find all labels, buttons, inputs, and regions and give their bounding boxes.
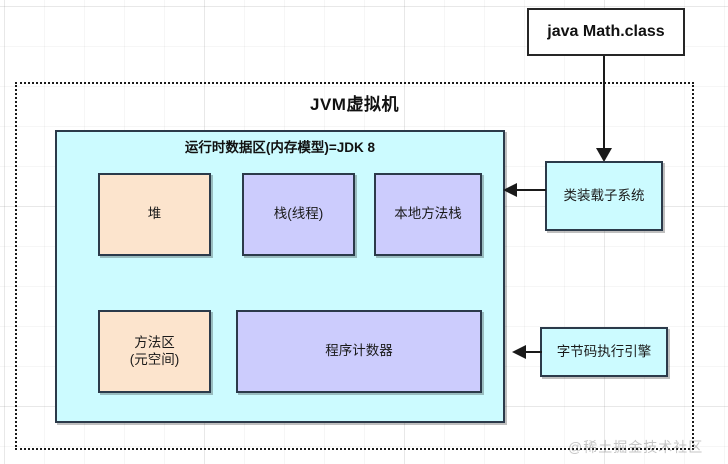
bytecode-execution-engine-label: 字节码执行引擎 [557,344,652,361]
diagram-canvas: java Math.class JVM虚拟机 运行时数据区(内存模型)=JDK … [0,0,728,464]
jvm-title: JVM虚拟机 [15,86,694,118]
method-area-label: 方法区 (元空间) [130,335,180,369]
watermark: @稀土掘金技术社区 [568,437,703,457]
heap-box[interactable]: 堆 [98,173,211,256]
class-loader-subsystem-box[interactable]: 类装载子系统 [545,161,663,231]
method-area-box[interactable]: 方法区 (元空间) [98,310,211,393]
native-method-stack-label: 本地方法栈 [394,206,462,223]
arrow-bytecode-to-runtimedata-head [512,345,526,359]
arrow-classloader-to-runtimedata-head [503,183,517,197]
method-area-label-line1: 方法区 [130,335,180,352]
arrow-bytecode-to-runtimedata-line [526,351,542,353]
heap-label: 堆 [148,206,162,223]
runtime-data-area-title: 运行时数据区(内存模型)=JDK 8 [55,133,505,159]
class-loader-subsystem-label: 类装载子系统 [564,188,645,205]
program-counter-register-label: 程序计数器 [325,343,393,360]
stack-label: 栈(线程) [274,206,324,223]
method-area-label-line2: (元空间) [130,352,180,369]
native-method-stack-box[interactable]: 本地方法栈 [374,173,482,256]
java-math-class-box[interactable]: java Math.class [527,8,685,56]
arrow-classloader-to-runtimedata-line [516,189,546,191]
bytecode-execution-engine-box[interactable]: 字节码执行引擎 [540,327,668,377]
stack-box[interactable]: 栈(线程) [242,173,355,256]
java-math-class-label: java Math.class [547,22,664,42]
program-counter-register-box[interactable]: 程序计数器 [236,310,482,393]
